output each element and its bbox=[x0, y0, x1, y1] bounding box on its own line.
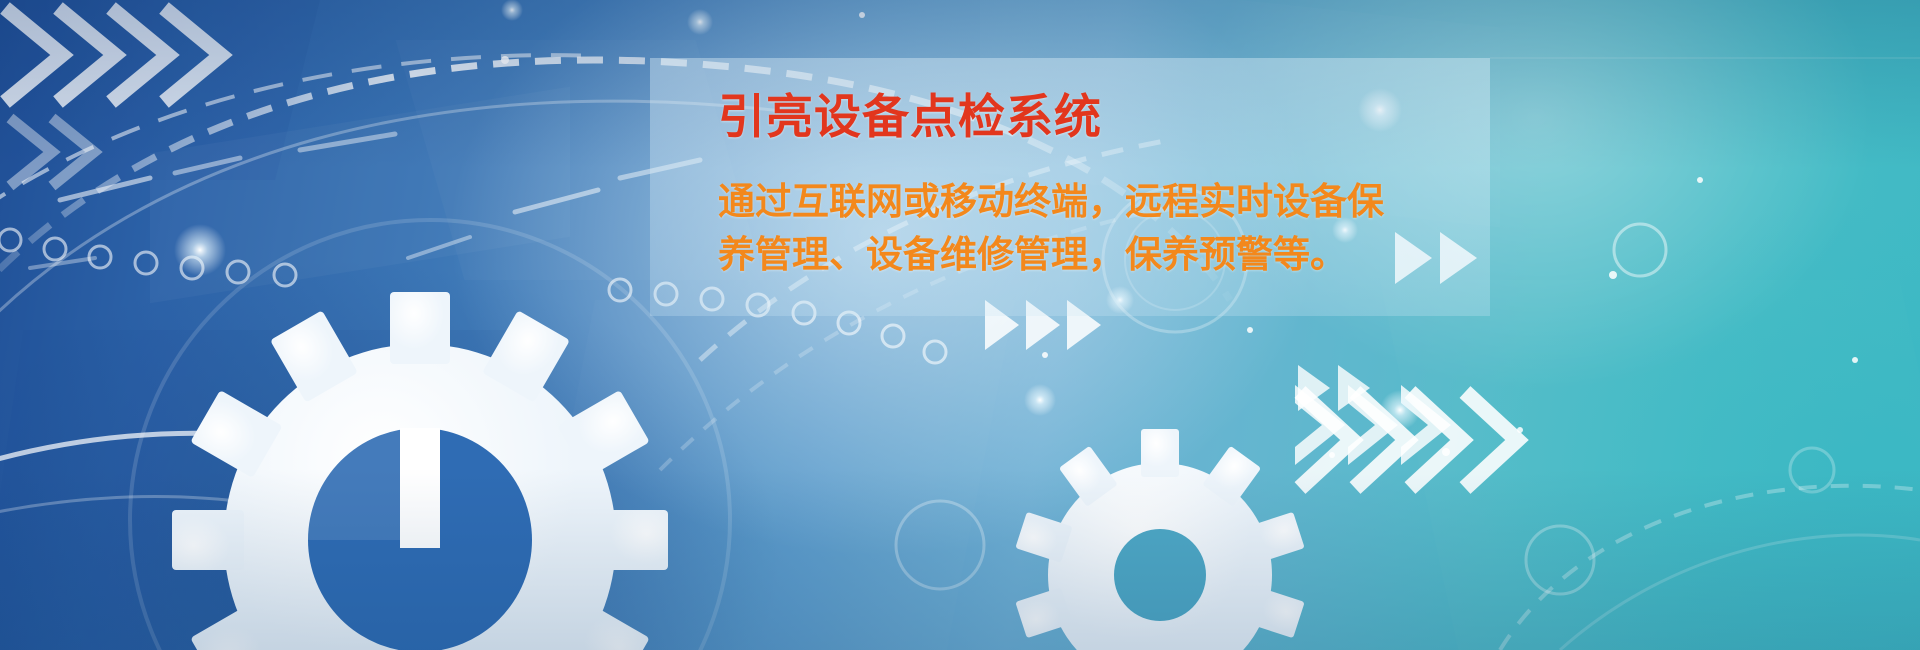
headline-wrapper: 引亮设备点检系统 bbox=[718, 92, 1538, 145]
hero-banner: 引亮设备点检系统 通过互联网或移动终端，远程实时设备保 养管理、设备维修管理，保… bbox=[0, 0, 1920, 650]
page-title: 引亮设备点检系统 bbox=[718, 92, 1538, 145]
subtitle-line-1: 通过互联网或移动终端，远程实时设备保 bbox=[718, 176, 1508, 229]
subtitle-line-2: 养管理、设备维修管理，保养预警等。 bbox=[718, 229, 1508, 282]
subtitle: 通过互联网或移动终端，远程实时设备保 养管理、设备维修管理，保养预警等。 bbox=[718, 176, 1508, 281]
